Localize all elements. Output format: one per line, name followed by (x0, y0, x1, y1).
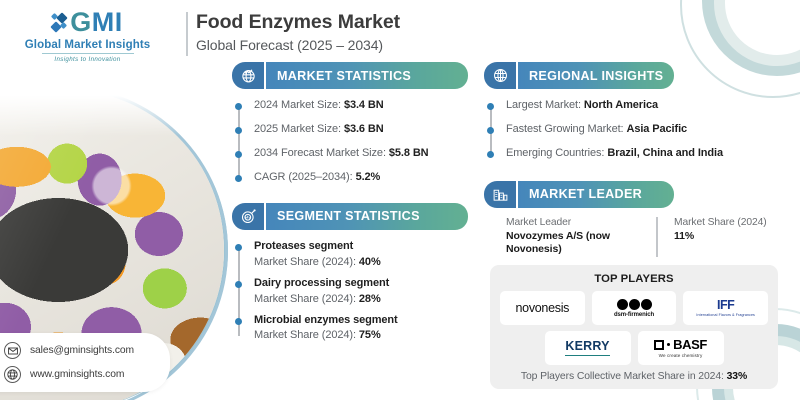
ms-label-3: CAGR (2025–2034): (254, 171, 353, 183)
market-share-label: Market Share (2024) (674, 217, 800, 228)
list-item: Emerging Countries: Brazil, China and In… (506, 146, 784, 162)
seg-title-1: Dairy processing segment (254, 276, 468, 292)
regional-insights-title: REGIONAL INSIGHTS (516, 62, 674, 89)
market-leader-name-col: Market Leader Novozymes A/S (now Novones… (506, 217, 656, 257)
market-leader-title: MARKET LEADER (516, 181, 674, 208)
page-subtitle: Global Forecast (2025 – 2034) (196, 37, 400, 53)
novonesis-wordmark: novonesis (516, 301, 570, 315)
factory-buildings-icon (484, 181, 516, 208)
seg-value-2: 75% (359, 329, 381, 341)
market-statistics-list: 2024 Market Size: $3.4 BN 2025 Market Si… (232, 98, 468, 186)
ri-value-1: Asia Pacific (626, 123, 687, 135)
basf-dot-icon (667, 343, 670, 346)
market-leader-label: Market Leader (506, 217, 656, 228)
basf-mark: BASF (654, 338, 707, 351)
left-column: MARKET STATISTICS 2024 Market Size: $3.4… (232, 62, 468, 344)
ri-value-0: North America (584, 99, 658, 111)
page-title: Food Enzymes Market (196, 10, 400, 34)
list-item: CAGR (2025–2034): 5.2% (254, 170, 468, 186)
list-item: Proteases segment Market Share (2024): 4… (254, 239, 468, 271)
top-players-row-2: KERRY BASF We create chemistry (500, 331, 768, 365)
top-players-footer: Top Players Collective Market Share in 2… (500, 371, 768, 382)
regional-insights-header: REGIONAL INSIGHTS (484, 62, 674, 89)
seg-label-1: Market Share (2024): (254, 293, 356, 305)
segment-statistics-list: Proteases segment Market Share (2024): 4… (232, 239, 468, 345)
market-statistics-section: MARKET STATISTICS 2024 Market Size: $3.4… (232, 62, 468, 186)
ms-label-0: 2024 Market Size: (254, 99, 341, 111)
iff-wordmark: IFF (717, 299, 734, 312)
player-logo-basf: BASF We create chemistry (638, 331, 724, 365)
seg-value-1: 28% (359, 293, 381, 305)
segment-statistics-section: SEGMENT STATISTICS Proteases segment Mar… (232, 203, 468, 345)
ms-label-1: 2025 Market Size: (254, 123, 341, 135)
collective-share-value: 33% (727, 371, 748, 382)
ri-label-2: Emerging Countries: (506, 147, 604, 159)
market-leader-header: MARKET LEADER (484, 181, 674, 208)
list-item: 2034 Forecast Market Size: $5.8 BN (254, 146, 468, 162)
ms-label-2: 2034 Forecast Market Size: (254, 147, 386, 159)
dsm-wordmark: dsm-firmenich (614, 312, 654, 318)
top-players-row-1: novonesis dsm-firmenich IFF Internationa… (500, 291, 768, 325)
market-leader-body: Market Leader Novozymes A/S (now Novones… (484, 217, 784, 257)
seg-label-2: Market Share (2024): (254, 329, 356, 341)
market-leader-share-col: Market Share (2024) 11% (656, 217, 800, 257)
list-item: Microbial enzymes segment Market Share (… (254, 313, 468, 345)
logo-initials: GMI (70, 9, 123, 36)
logo-tagline: Insights to Innovation (42, 53, 134, 63)
seg-title-2: Microbial enzymes segment (254, 313, 468, 329)
globe-icon (4, 366, 21, 383)
regional-insights-section: REGIONAL INSIGHTS Largest Market: North … (484, 62, 784, 162)
market-share-value: 11% (674, 230, 800, 244)
logo-mark: GMI (52, 9, 123, 36)
ms-value-2: $5.8 BN (389, 147, 429, 159)
ri-value-2: Brazil, China and India (607, 147, 723, 159)
analytics-target-icon (232, 203, 264, 230)
market-leader-section: MARKET LEADER Market Leader Novozymes A/… (484, 181, 784, 257)
logo-company-name: Global Market Insights (25, 39, 151, 51)
collective-share-label: Top Players Collective Market Share in 2… (521, 371, 724, 382)
contact-email-row[interactable]: sales@gminsights.com (4, 342, 160, 359)
logo-diamond-icon (52, 14, 67, 31)
title-divider (186, 12, 188, 56)
contact-website-row[interactable]: www.gminsights.com (4, 366, 160, 383)
market-leader-value: Novozymes A/S (now Novonesis) (506, 230, 656, 257)
seg-value-0: 40% (359, 256, 381, 268)
player-logo-novonesis: novonesis (500, 291, 585, 325)
kerry-wordmark: KERRY (565, 340, 609, 356)
list-item: 2025 Market Size: $3.6 BN (254, 122, 468, 138)
right-column: REGIONAL INSIGHTS Largest Market: North … (484, 62, 784, 389)
segment-statistics-title: SEGMENT STATISTICS (264, 203, 468, 230)
basf-square-icon (654, 340, 664, 350)
globe-grid-icon (484, 62, 516, 89)
seg-title-0: Proteases segment (254, 239, 468, 255)
list-item: 2024 Market Size: $3.4 BN (254, 98, 468, 114)
basf-subtitle: We create chemistry (659, 353, 703, 358)
globe-chart-icon (232, 62, 264, 89)
market-statistics-header: MARKET STATISTICS (232, 62, 468, 89)
gmi-logo: GMI Global Market Insights Insights to I… (0, 0, 175, 72)
ms-value-1: $3.6 BN (344, 123, 384, 135)
player-logo-iff: IFF International Flavors & Fragrances (683, 291, 768, 325)
segment-statistics-header: SEGMENT STATISTICS (232, 203, 468, 230)
list-item: Fastest Growing Market: Asia Pacific (506, 122, 784, 138)
contact-website: www.gminsights.com (30, 369, 124, 380)
dsm-dots-icon (617, 299, 652, 310)
seg-label-0: Market Share (2024): (254, 256, 356, 268)
list-item: Dairy processing segment Market Share (2… (254, 276, 468, 308)
ms-value-3: 5.2% (356, 171, 381, 183)
iff-subtitle: International Flavors & Fragrances (696, 313, 755, 317)
player-logo-kerry: KERRY (545, 331, 631, 365)
top-players-title: TOP PLAYERS (500, 273, 768, 285)
list-item: Largest Market: North America (506, 98, 784, 114)
infographic-canvas: GMI Global Market Insights Insights to I… (0, 0, 800, 400)
regional-insights-list: Largest Market: North America Fastest Gr… (484, 98, 784, 162)
top-players-card: TOP PLAYERS novonesis dsm-firmenich IFF … (490, 265, 778, 389)
decorative-arc-top-right-inner (714, 0, 800, 66)
contact-email: sales@gminsights.com (30, 345, 134, 356)
title-block: Food Enzymes Market Global Forecast (202… (196, 10, 400, 53)
envelope-icon (4, 342, 21, 359)
basf-wordmark: BASF (673, 338, 707, 351)
player-logo-dsm-firmenich: dsm-firmenich (592, 291, 677, 325)
market-statistics-title: MARKET STATISTICS (264, 62, 468, 89)
ri-label-1: Fastest Growing Market: (506, 123, 624, 135)
ri-label-0: Largest Market: (506, 99, 581, 111)
contact-card: sales@gminsights.com www.gminsights.com (0, 333, 170, 392)
ms-value-0: $3.4 BN (344, 99, 384, 111)
